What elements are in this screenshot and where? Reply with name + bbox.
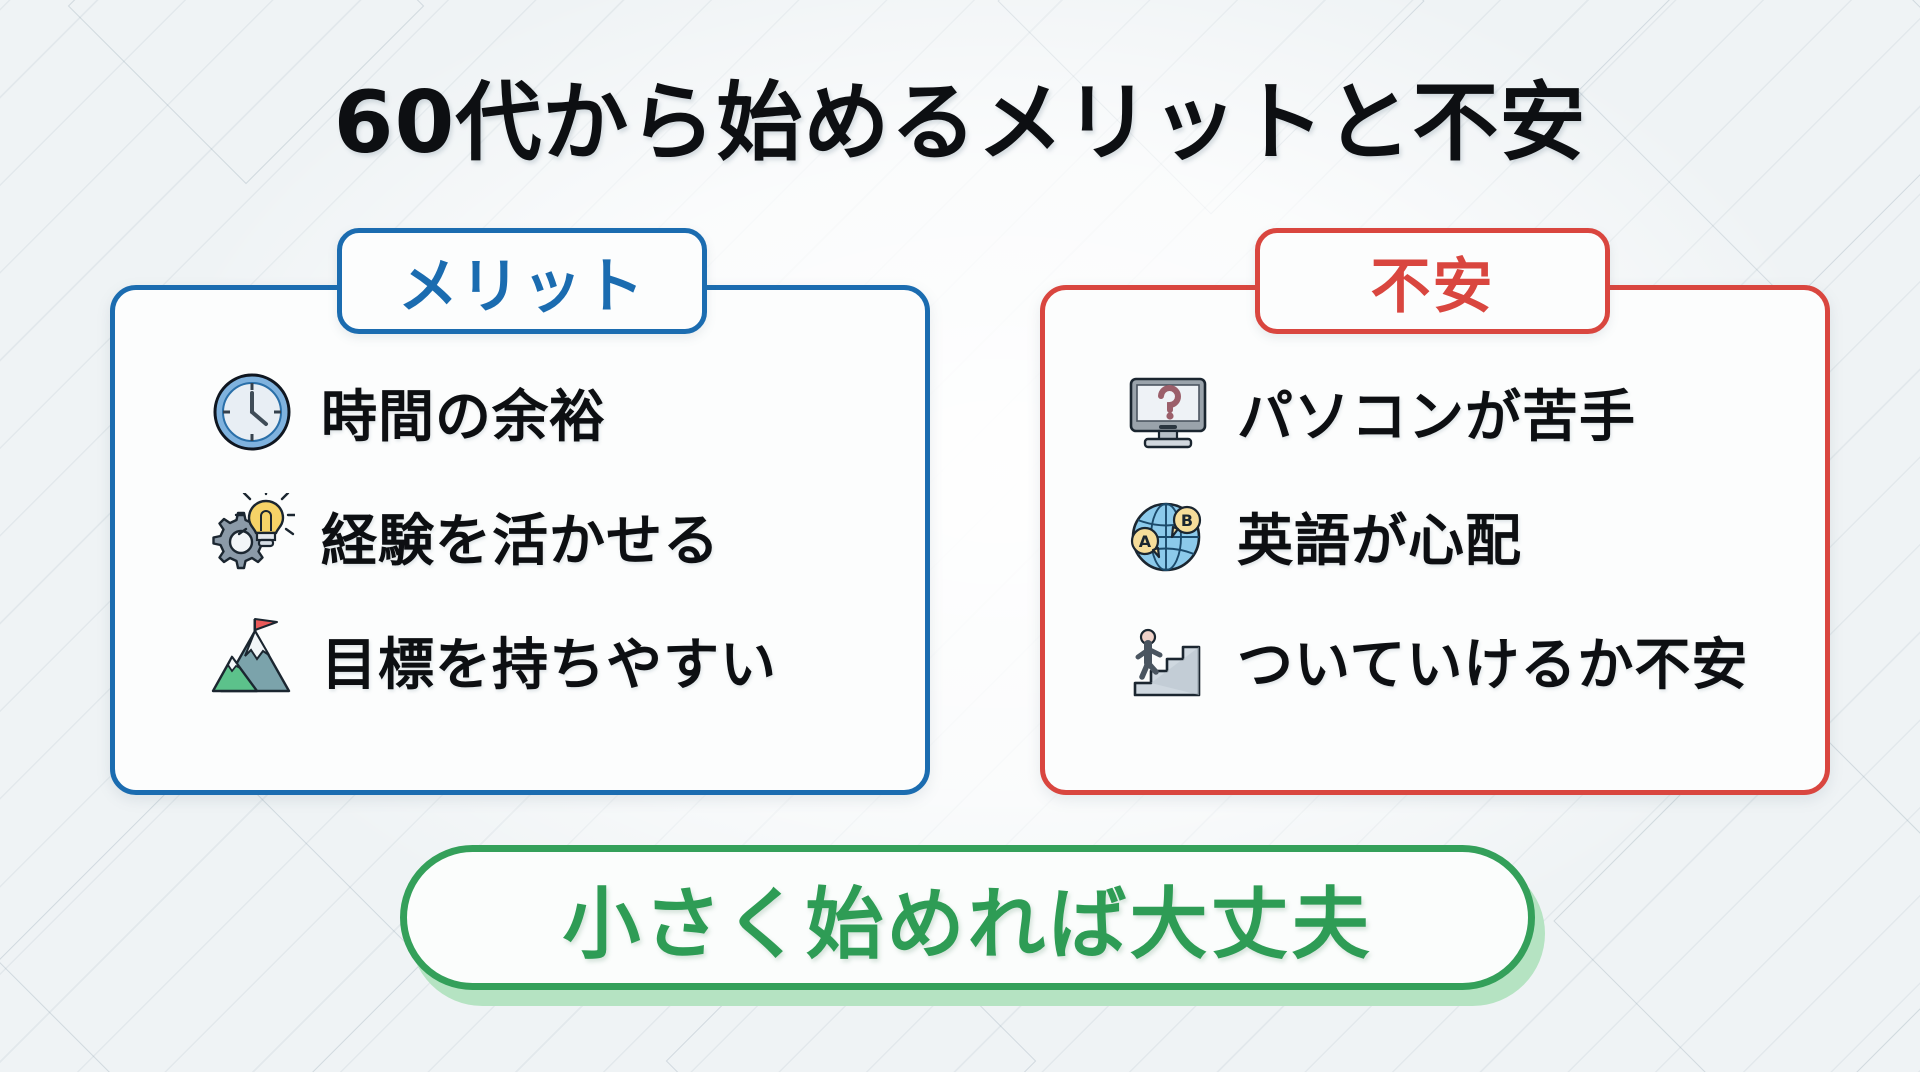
list-item: パソコンが苦手 <box>1045 350 1825 474</box>
anxiety-panel: 不安 パソコンが苦手 <box>1040 285 1830 795</box>
banner-text: 小さく始めれば大丈夫 <box>562 862 1372 974</box>
merit-item-list: 時間の余裕 <box>115 350 925 722</box>
list-item-label: 英語が心配 <box>1237 496 1522 577</box>
list-item-label: 時間の余裕 <box>321 372 606 453</box>
svg-text:A: A <box>1139 532 1152 551</box>
list-item: 時間の余裕 <box>115 350 925 474</box>
list-item-label: 経験を活かせる <box>321 496 720 577</box>
list-item-label: ついていけるか不安 <box>1237 620 1748 701</box>
stairs-person-icon <box>1125 617 1211 703</box>
mountain-flag-icon <box>209 617 295 703</box>
list-item-label: 目標を持ちやすい <box>321 620 777 701</box>
slide-canvas: 60代から始めるメリットと不安 メリット 時間 <box>0 0 1920 1072</box>
list-item: A B 英語が心配 <box>1045 474 1825 598</box>
list-item-label: パソコンが苦手 <box>1237 372 1636 453</box>
anxiety-badge: 不安 <box>1255 228 1610 334</box>
gear-lightbulb-icon <box>209 493 295 579</box>
merit-panel: メリット 時間の余裕 <box>110 285 930 795</box>
list-item: 経験を活かせる <box>115 474 925 598</box>
background-diamond-shape <box>0 747 425 1072</box>
list-item: ついていけるか不安 <box>1045 598 1825 722</box>
svg-text:B: B <box>1181 511 1193 530</box>
merit-badge: メリット <box>337 228 707 334</box>
conclusion-banner: 小さく始めれば大丈夫 <box>400 845 1545 1005</box>
list-item: 目標を持ちやすい <box>115 598 925 722</box>
slide-title: 60代から始めるメリットと不安 <box>0 52 1920 177</box>
anxiety-item-list: パソコンが苦手 <box>1045 350 1825 722</box>
clock-icon <box>209 369 295 455</box>
monitor-question-icon <box>1125 369 1211 455</box>
banner-body: 小さく始めれば大丈夫 <box>400 845 1535 990</box>
globe-ab-icon: A B <box>1125 493 1211 579</box>
